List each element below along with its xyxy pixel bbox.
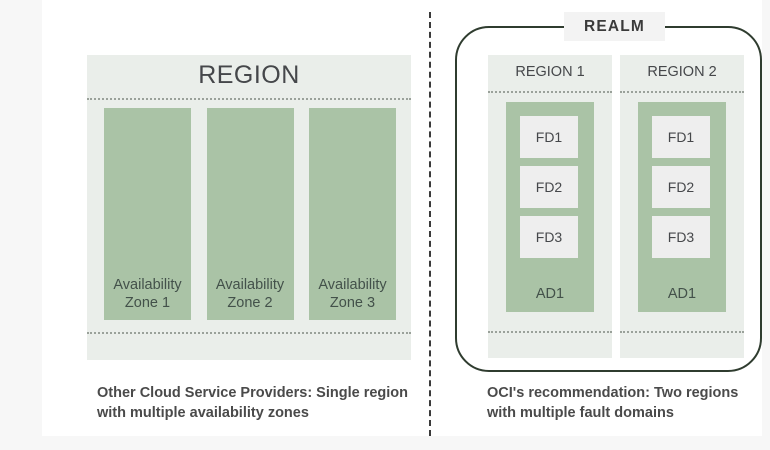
availability-zone-1-label: Availability Zone 1 (104, 276, 191, 312)
region-1-divider-bottom (488, 331, 612, 333)
availability-zone-1: Availability Zone 1 (104, 108, 191, 320)
region-2-divider-top (620, 91, 744, 93)
az-1-label-line1: Availability (113, 277, 181, 293)
diagram-canvas: REGION Availability Zone 1 Availability … (42, 0, 762, 436)
caption-left-line1: Other Cloud Service Providers: Single re… (97, 385, 408, 401)
region-panel-1: REGION 1 FD1 FD2 FD3 AD1 (488, 55, 612, 358)
caption-left-line2: with multiple availability zones (97, 405, 309, 421)
region-panel-left: REGION Availability Zone 1 Availability … (87, 55, 411, 360)
caption-left: Other Cloud Service Providers: Single re… (97, 383, 417, 423)
region-panel-2: REGION 2 FD1 FD2 FD3 AD1 (620, 55, 744, 358)
az-2-label-line1: Availability (216, 277, 284, 293)
availability-zone-3-label: Availability Zone 3 (309, 276, 396, 312)
region-1-fault-domain-3: FD3 (520, 216, 578, 258)
region-1-fault-domain-1: FD1 (520, 116, 578, 158)
vertical-dashed-divider (429, 12, 431, 436)
region-2-ad-label: AD1 (638, 286, 726, 302)
region-2-title: REGION 2 (620, 55, 744, 89)
availability-zone-2: Availability Zone 2 (207, 108, 294, 320)
region-1-fault-domain-2: FD2 (520, 166, 578, 208)
availability-zone-2-label: Availability Zone 2 (207, 276, 294, 312)
caption-right-line2: with multiple fault domains (487, 405, 674, 421)
az-2-label-line2: Zone 2 (227, 295, 272, 311)
region-title: REGION (87, 55, 411, 95)
region-1-ad-label: AD1 (506, 286, 594, 302)
region-2-fault-domain-2: FD2 (652, 166, 710, 208)
region-2-availability-domain: FD1 FD2 FD3 AD1 (638, 102, 726, 312)
az-3-label-line1: Availability (318, 277, 386, 293)
divider-dotted-top (87, 98, 411, 100)
az-3-label-line2: Zone 3 (330, 295, 375, 311)
region-2-fault-domain-3: FD3 (652, 216, 710, 258)
caption-right: OCI's recommendation: Two regions with m… (487, 383, 770, 423)
region-1-divider-top (488, 91, 612, 93)
realm-label: REALM (564, 12, 665, 41)
region-1-title: REGION 1 (488, 55, 612, 89)
region-1-availability-domain: FD1 FD2 FD3 AD1 (506, 102, 594, 312)
divider-dotted-bottom (87, 332, 411, 334)
caption-right-line1: OCI's recommendation: Two regions (487, 385, 738, 401)
az-1-label-line2: Zone 1 (125, 295, 170, 311)
availability-zone-3: Availability Zone 3 (309, 108, 396, 320)
availability-zone-row: Availability Zone 1 Availability Zone 2 … (104, 108, 396, 320)
region-2-fault-domain-1: FD1 (652, 116, 710, 158)
region-2-divider-bottom (620, 331, 744, 333)
